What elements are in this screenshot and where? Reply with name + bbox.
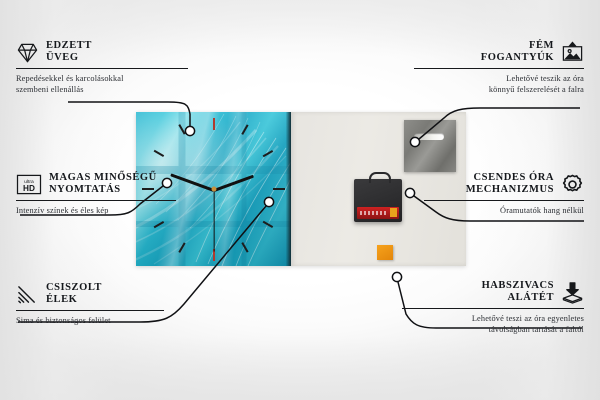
feature-metal-handles: FÉM FOGANTYÚK Lehetővé teszik az óra kön… <box>414 40 584 96</box>
feature-header: EDZETT ÜVEG <box>16 40 188 65</box>
clock-pivot <box>211 187 216 192</box>
gear-icon <box>561 173 584 196</box>
feature-foam-pad: HABSZIVACS ALÁTÉT Lehetővé teszi az óra … <box>402 280 584 336</box>
feature-tempered-glass: EDZETT ÜVEG Repedésekkel és karcolásokka… <box>16 40 188 96</box>
feature-desc-line1: Óramutatók hang nélkül <box>424 205 584 216</box>
feature-title: CSENDES ÓRA MECHANIZMUS <box>466 172 554 197</box>
hanger-slot <box>414 133 444 140</box>
foam-pad <box>377 245 393 260</box>
feature-desc-line1: Lehetővé teszik az óra <box>414 73 584 84</box>
feature-title: HABSZIVACS ALÁTÉT <box>482 280 554 305</box>
feature-title: MAGAS MINŐSÉGŰ NYOMTATÁS <box>49 172 157 197</box>
feature-desc-line1: Repedésekkel és karcolásokkal <box>16 73 188 84</box>
feature-title: CSISZOLT ÉLEK <box>46 282 102 307</box>
foam-pad-icon <box>561 281 584 304</box>
divider <box>16 200 176 201</box>
diamond-icon <box>16 41 39 64</box>
feature-header: HABSZIVACS ALÁTÉT <box>402 280 584 305</box>
feature-title: EDZETT ÜVEG <box>46 40 92 65</box>
feature-header: CSENDES ÓRA MECHANIZMUS <box>424 172 584 197</box>
battery-stripes <box>360 211 388 215</box>
clock-tick-3 <box>273 188 285 190</box>
battery-plus-terminal <box>390 208 397 217</box>
divider <box>16 68 188 69</box>
product-image <box>136 112 466 266</box>
feature-title: FÉM FOGANTYÚK <box>481 40 554 65</box>
clock-mechanism <box>354 179 402 222</box>
mechanism-hook <box>369 172 391 183</box>
feature-silent-mechanism: CSENDES ÓRA MECHANIZMUS Óramutatók hang … <box>424 172 584 216</box>
feature-desc-line1: Sima és biztonságos felület <box>16 315 164 326</box>
divider <box>402 308 584 309</box>
clock-tick-12 <box>213 118 215 130</box>
feature-desc-line1: Lehetővé teszi az óra egyenletes <box>402 313 584 324</box>
svg-text:HD: HD <box>23 184 35 193</box>
feature-header: FÉM FOGANTYÚK <box>414 40 584 65</box>
picture-frame-icon <box>561 41 584 64</box>
ultra-hd-icon: ultra HD <box>16 173 42 196</box>
feature-polished-edges: CSISZOLT ÉLEK Sima és biztonságos felüle… <box>16 282 164 326</box>
feature-high-quality-print: ultra HD MAGAS MINŐSÉGŰ NYOMTATÁS Intenz… <box>16 172 176 216</box>
feature-desc-line1: Intenzív színek és éles kép <box>16 205 176 216</box>
battery <box>357 207 399 219</box>
divider <box>424 200 584 201</box>
clock-second-hand <box>213 189 214 251</box>
metal-hanger-plate <box>404 120 456 172</box>
feature-desc-line2: szembeni ellenállás <box>16 84 188 95</box>
feature-header: ultra HD MAGAS MINŐSÉGŰ NYOMTATÁS <box>16 172 176 197</box>
divider <box>414 68 584 69</box>
polished-edges-icon <box>16 283 39 306</box>
feature-desc-line2: könnyű felszerelését a falra <box>414 84 584 95</box>
product-infographic: EDZETT ÜVEG Repedésekkel és karcolásokka… <box>0 0 600 400</box>
divider <box>16 310 164 311</box>
feature-desc-line2: távolságban tartását a faltól <box>402 324 584 335</box>
feature-header: CSISZOLT ÉLEK <box>16 282 164 307</box>
